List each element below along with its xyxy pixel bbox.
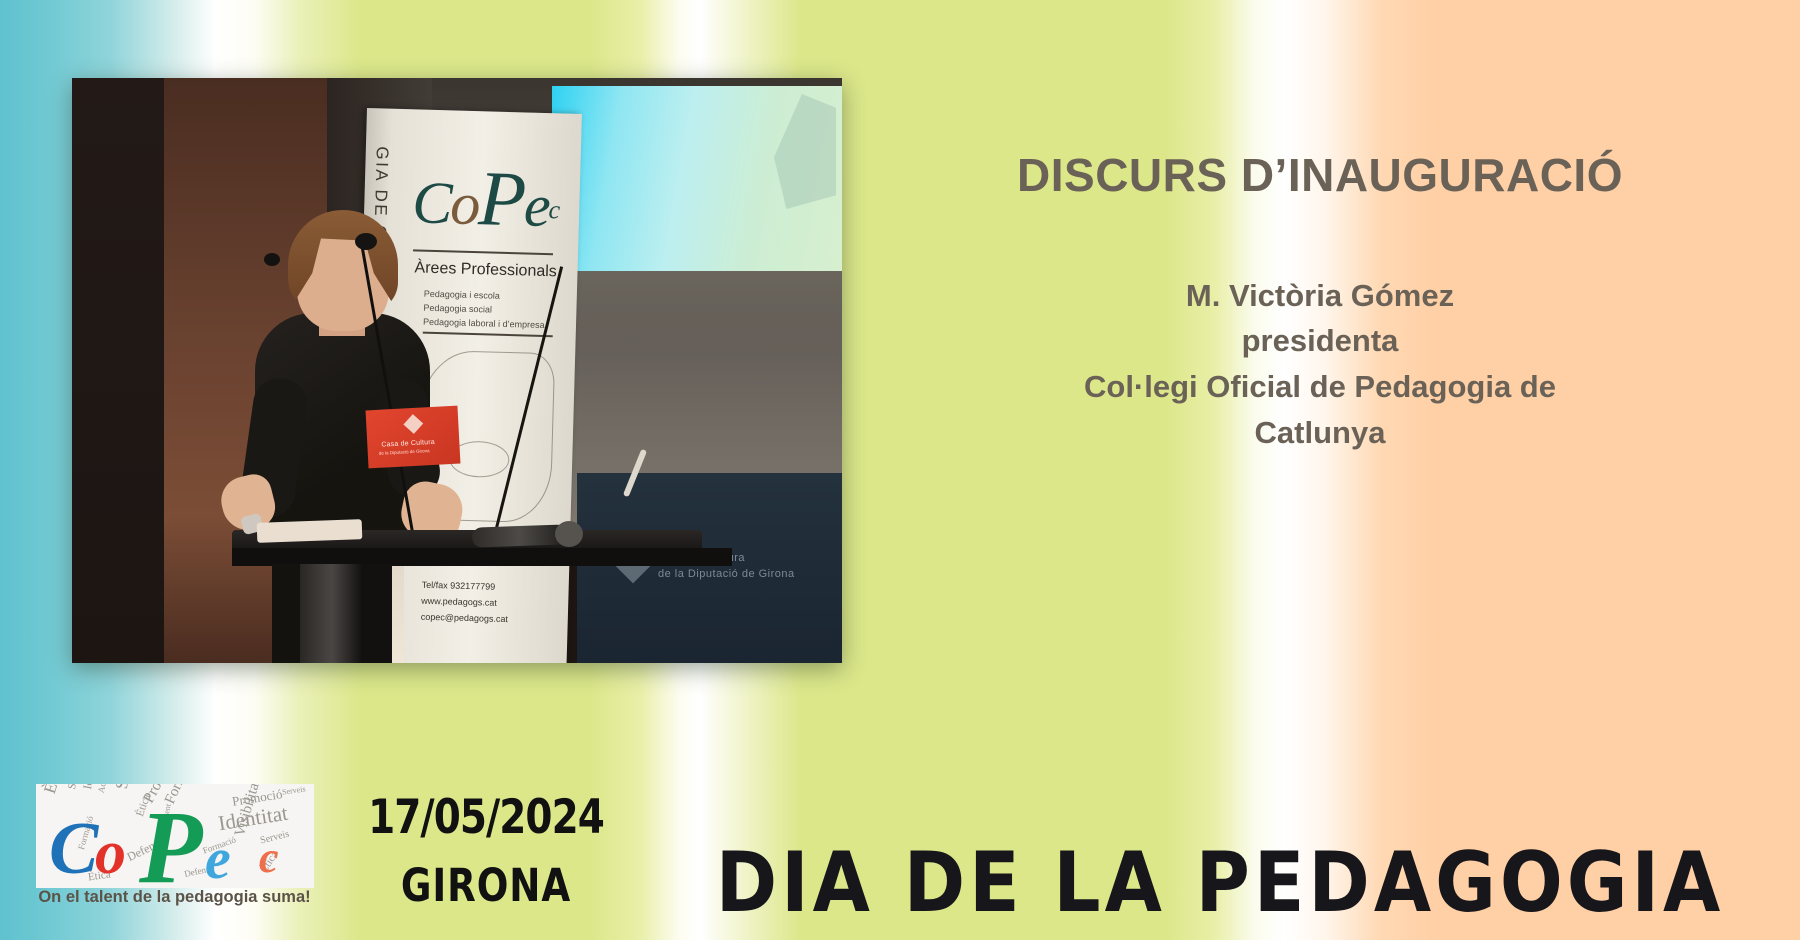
banner-contact-web: www.pedagogs.cat <box>421 593 509 611</box>
logo-letter-c1: C <box>49 812 98 886</box>
event-city: GIRONA <box>348 859 624 912</box>
speaker-photo: Casa de Cultura de la Diputació de Giron… <box>72 78 842 663</box>
photo-projection-blob <box>774 94 836 209</box>
red-sign-title: Casa de Cultura <box>381 439 435 449</box>
photo-projection-screen <box>552 86 842 271</box>
photo-inner: Casa de Cultura de la Diputació de Giron… <box>72 78 842 663</box>
speaker-organization-line1: Col·legi Oficial de Pedagogia de <box>880 364 1760 410</box>
slide-canvas: Casa de Cultura de la Diputació de Giron… <box>0 0 1800 940</box>
photo-red-sign: Casa de Cultura de la Diputació de Giron… <box>366 406 461 469</box>
photo-handheld-mic-head <box>555 521 583 547</box>
banner-divider-top <box>413 249 553 255</box>
copec-logo: Ètica Serveis Identitat Acompanyament Se… <box>27 784 322 919</box>
speaker-details: M. Victòria Gómez presidenta Col·legi Of… <box>880 273 1760 457</box>
logo-letter-c2: c <box>259 836 279 880</box>
logo-lettermark: C o P e c <box>27 790 305 890</box>
speaker-organization-line2: Catlunya <box>880 410 1760 456</box>
event-date-block: 17/05/2024 GIRONA <box>336 790 636 912</box>
logo-letter-e: e <box>205 830 231 888</box>
logo-letter-p: P <box>139 796 203 900</box>
event-title: DIA DE LA PEDAGOGIA <box>650 835 1790 931</box>
title-text-block: DISCURS D’INAUGURACIÓ M. Victòria Gómez … <box>880 150 1760 456</box>
banner-contact-email: copec@pedagogs.cat <box>421 609 509 627</box>
photo-screen-shadow <box>552 271 842 351</box>
logo-letter-o: o <box>95 822 126 884</box>
banner-area-item: Pedagogia laboral i d’empresa <box>423 316 545 333</box>
red-sign-crest-icon <box>403 414 423 434</box>
logo-tagline: On el talent de la pedagogia suma! <box>27 888 322 907</box>
photo-mic-head-front <box>264 253 280 266</box>
photo-lectern-stem <box>300 564 358 663</box>
photo-papers <box>257 519 363 543</box>
event-date: 17/05/2024 <box>348 790 624 845</box>
photo-handheld-mic <box>472 524 568 547</box>
banner-contact-block: Tel/fax 932177799 www.pedagogs.cat copec… <box>421 578 509 628</box>
venue-subtitle: de la Diputació de Girona <box>658 568 795 580</box>
banner-copec-logo: CoPec <box>411 157 563 243</box>
page-title: DISCURS D’INAUGURACIÓ <box>880 150 1760 201</box>
speaker-name: M. Victòria Gómez <box>880 273 1760 319</box>
photo-curtain-left <box>72 78 172 663</box>
banner-areas-title: Àrees Professionals <box>414 259 557 281</box>
speaker-role: presidenta <box>880 318 1760 364</box>
photo-mic-head-back <box>355 233 377 250</box>
red-sign-subtitle: de la Diputació de Girona <box>379 448 430 456</box>
banner-areas-list: Pedagogia i escola Pedagogia social Peda… <box>423 288 546 333</box>
